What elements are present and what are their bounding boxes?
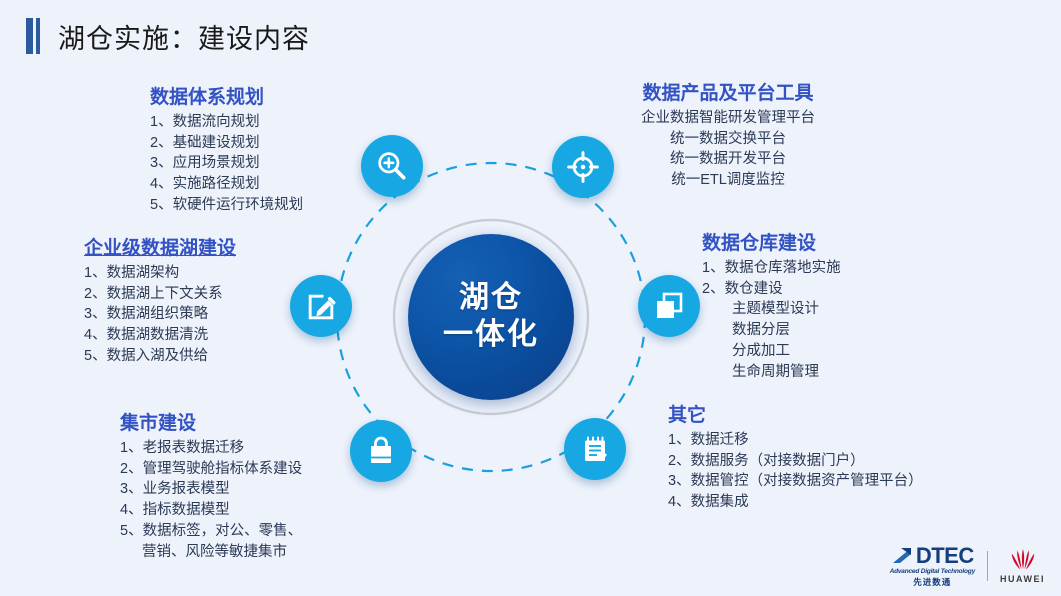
huawei-logo: HUAWEI	[1000, 547, 1045, 584]
list-subitem: 分成加工	[702, 341, 841, 362]
dtec-mark-icon	[891, 546, 915, 566]
magnifier-plus-icon[interactable]	[361, 135, 423, 197]
list-item: 3、数据湖组织策略	[84, 304, 236, 325]
block-data-warehouse: 数据仓库建设 1、数据仓库落地实施 2、数仓建设 主题模型设计 数据分层 分成加…	[702, 228, 841, 382]
edit-pencil-square-icon[interactable]	[290, 275, 352, 337]
block-heading-mart-construction: 集市建设	[120, 408, 302, 435]
title-bars-icon	[26, 18, 40, 54]
list-item: 2、数仓建设	[702, 279, 841, 300]
core-line-2: 一体化	[443, 317, 539, 354]
list-item: 5、数据入湖及供给	[84, 346, 236, 367]
block-heading-data-warehouse: 数据仓库建设	[702, 228, 841, 255]
page-title-area: 湖仓实施：建设内容	[26, 14, 310, 58]
magnifier-plus-glyph	[375, 149, 409, 183]
block-list-data-warehouse: 1、数据仓库落地实施 2、数仓建设 主题模型设计 数据分层 分成加工 生命周期管…	[702, 258, 841, 382]
notepad-check-icon[interactable]	[564, 418, 626, 480]
block-heading-data-system-planning: 数据体系规划	[150, 82, 303, 109]
footer-logos: DTEC Advanced Digital Technology 先进数通 HU…	[890, 545, 1045, 586]
notepad-check-glyph	[579, 433, 611, 465]
list-item: 1、老报表数据迁移	[120, 438, 302, 459]
crosshair-target-icon[interactable]	[552, 136, 614, 198]
hub-diagram: 湖仓 一体化	[298, 118, 718, 518]
slide-canvas: 湖仓实施：建设内容 数据体系规划 1、数据流向规划 2、基础建设规划 3、应用场…	[0, 0, 1061, 596]
core-line-1: 湖仓	[459, 280, 523, 317]
list-item-continuation: 营销、风险等敏捷集市	[120, 542, 302, 563]
block-enterprise-data-lake: 企业级数据湖建设 1、数据湖架构 2、数据湖上下文关系 3、数据湖组织策略 4、…	[84, 233, 236, 367]
block-list-enterprise-data-lake: 1、数据湖架构 2、数据湖上下文关系 3、数据湖组织策略 4、数据湖数据清洗 5…	[84, 263, 236, 367]
block-list-mart-construction: 1、老报表数据迁移 2、管理驾驶舱指标体系建设 3、业务报表模型 4、指标数据模…	[120, 438, 302, 562]
dtec-logo: DTEC Advanced Digital Technology 先进数通	[890, 545, 975, 586]
list-item: 2、数据湖上下文关系	[84, 284, 236, 305]
copy-layers-icon[interactable]	[638, 275, 700, 337]
list-item: 5、软硬件运行环境规划	[150, 195, 303, 216]
edit-pencil-square-glyph	[305, 290, 338, 323]
list-item: 5、数据标签，对公、零售、	[120, 521, 302, 542]
list-item: 4、指标数据模型	[120, 500, 302, 521]
block-data-system-planning: 数据体系规划 1、数据流向规划 2、基础建设规划 3、应用场景规划 4、实施路径…	[150, 82, 303, 216]
list-subitem: 主题模型设计	[702, 299, 841, 320]
list-item: 2、管理驾驶舱指标体系建设	[120, 459, 302, 480]
block-mart-construction: 集市建设 1、老报表数据迁移 2、管理驾驶舱指标体系建设 3、业务报表模型 4、…	[120, 408, 302, 562]
dtec-chinese-name: 先进数通	[913, 578, 951, 587]
block-list-data-system-planning: 1、数据流向规划 2、基础建设规划 3、应用场景规划 4、实施路径规划 5、软硬…	[150, 112, 303, 216]
crosshair-target-glyph	[566, 150, 600, 184]
huawei-flower-icon	[1003, 547, 1043, 573]
block-heading-enterprise-data-lake: 企业级数据湖建设	[84, 233, 236, 260]
list-item: 1、数据湖架构	[84, 263, 236, 284]
logo-divider	[987, 551, 988, 581]
block-heading-data-products-platform: 数据产品及平台工具	[600, 78, 856, 105]
list-subitem: 生命周期管理	[702, 362, 841, 383]
list-item: 3、应用场景规划	[150, 153, 303, 174]
list-item: 1、数据仓库落地实施	[702, 258, 841, 279]
list-item: 4、实施路径规划	[150, 174, 303, 195]
shopping-bag-icon[interactable]	[350, 420, 412, 482]
list-subitem: 数据分层	[702, 320, 841, 341]
list-item: 2、基础建设规划	[150, 133, 303, 154]
core-circle: 湖仓 一体化	[408, 234, 574, 400]
huawei-name: HUAWEI	[1000, 575, 1045, 584]
copy-layers-glyph	[653, 290, 685, 322]
list-item: 1、数据流向规划	[150, 112, 303, 133]
dtec-tagline: Advanced Digital Technology	[890, 569, 975, 576]
dtec-name: DTEC	[916, 545, 974, 567]
list-item: 3、业务报表模型	[120, 479, 302, 500]
list-item: 4、数据湖数据清洗	[84, 325, 236, 346]
shopping-bag-glyph	[365, 435, 397, 467]
page-title: 湖仓实施：建设内容	[58, 17, 310, 56]
